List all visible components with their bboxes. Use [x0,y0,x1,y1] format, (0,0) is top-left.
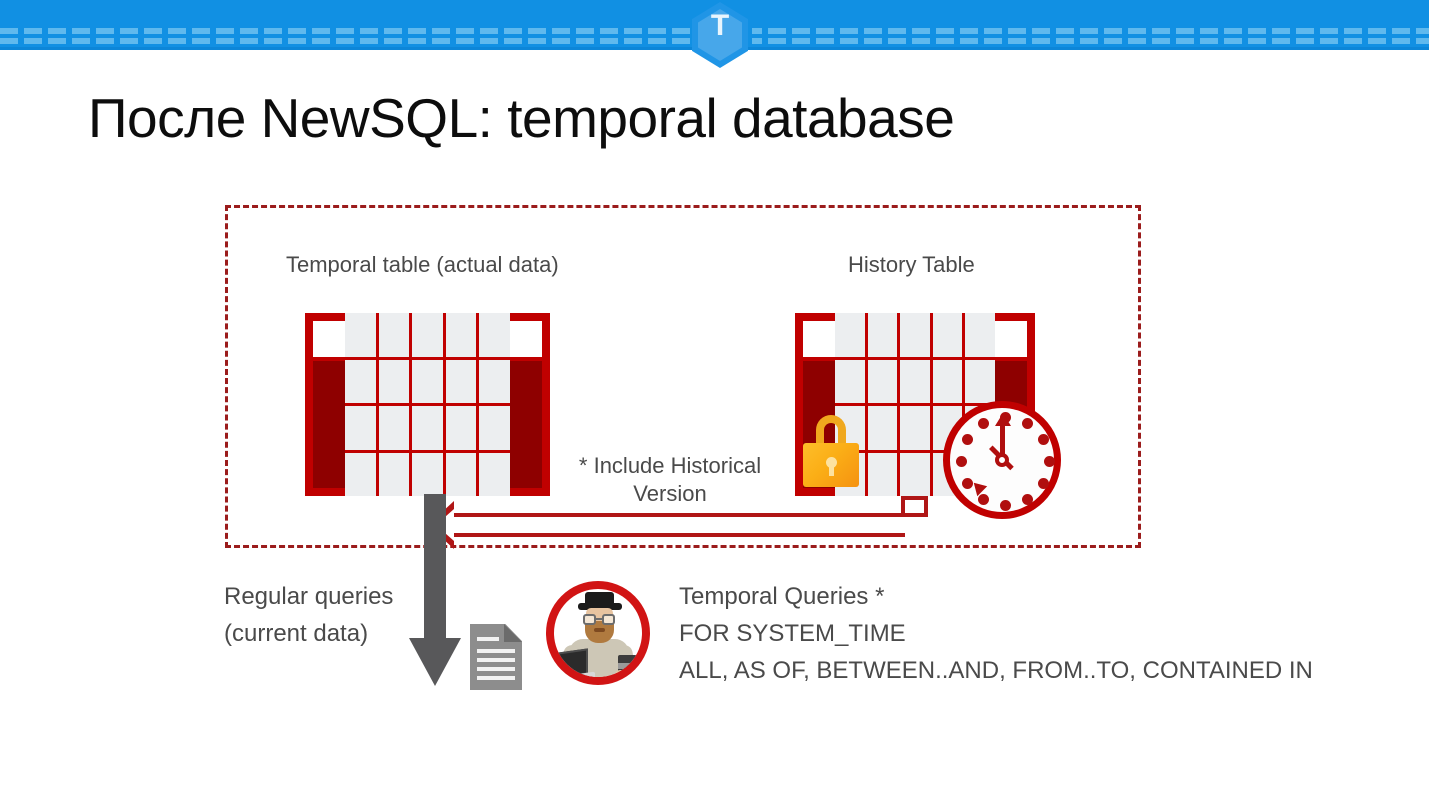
regular-queries-label: Regular queries (current data) [224,578,393,652]
temporal-table-caption: Temporal table (actual data) [286,252,559,278]
document-body [470,624,522,690]
page-title: После NewSQL: temporal database [88,86,954,150]
padlock-icon [803,415,859,487]
regular-query-arrow-shaft [424,494,446,640]
slide-root: T После NewSQL: temporal database Tempor… [0,0,1429,804]
developer-avatar-icon [546,581,650,685]
return-arrow-bottom-line [450,533,905,537]
return-arrow-hollow-fill [454,517,926,533]
logo-letter: T [692,11,748,41]
regular-queries-line-2: (current data) [224,615,393,652]
include-historical-version-note: * Include Historical Version [565,452,775,508]
regular-queries-line-1: Regular queries [224,578,393,615]
history-table-caption: History Table [848,252,975,278]
temporal-queries-line-1: Temporal Queries * [679,578,1313,615]
return-arrow-top-cap [901,496,928,500]
temporal-queries-line-3: ALL, AS OF, BETWEEN..AND, FROM..TO, CONT… [679,652,1313,689]
clock-icon [943,401,1061,519]
hexagon-logo-icon: T [692,2,748,68]
clock-center-pivot [995,453,1009,467]
regular-query-arrow-head [409,638,461,686]
padlock-keyhole-stem [829,465,834,476]
temporal-queries-line-2: FOR SYSTEM_TIME [679,615,1313,652]
temporal-table-icon [305,313,550,496]
document-fold-corner [504,624,522,642]
clock-hand-up-arrowhead [995,413,1011,426]
temporal-table-grid [345,313,510,496]
temporal-queries-label: Temporal Queries * FOR SYSTEM_TIME ALL, … [679,578,1313,689]
document-icon [470,624,522,690]
